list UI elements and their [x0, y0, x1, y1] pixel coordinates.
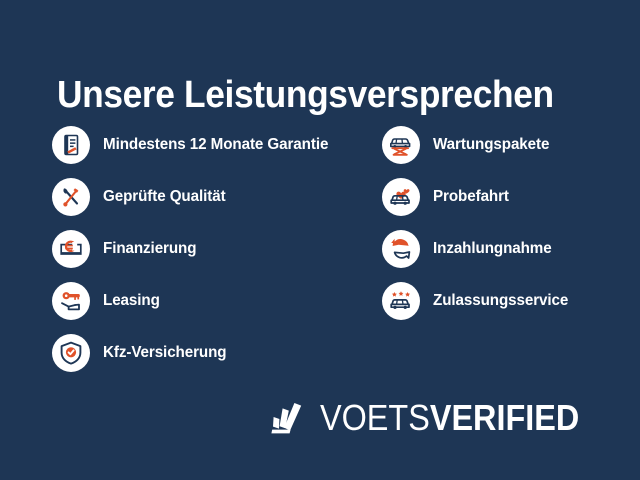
- promise-label: Kfz-Versicherung: [103, 344, 227, 362]
- certificate-document-pen-icon: [52, 126, 90, 164]
- page-title: Unsere Leistungsversprechen: [57, 73, 559, 117]
- promise-label: Leasing: [103, 292, 160, 310]
- promise-item-versicherung[interactable]: Kfz-Versicherung: [52, 334, 382, 372]
- shield-check-icon: [52, 334, 90, 372]
- promises-left-column: Mindestens 12 Monate Garantie: [52, 126, 382, 386]
- leistungsversprechen-poster: Unsere Leistungsversprechen Min: [0, 0, 640, 480]
- voets-v-checkmark-icon: [268, 398, 308, 438]
- promise-item-inzahlungnahme[interactable]: Inzahlungnahme: [382, 230, 640, 268]
- promise-label: Zulassungsservice: [433, 292, 568, 310]
- promise-item-probefahrt[interactable]: Probefahrt: [382, 178, 640, 216]
- promise-label: Wartungspakete: [433, 136, 549, 154]
- promise-label: Geprüfte Qualität: [103, 188, 226, 206]
- promise-item-garantie[interactable]: Mindestens 12 Monate Garantie: [52, 126, 382, 164]
- exchange-arrows-icon: [382, 230, 420, 268]
- promise-label: Probefahrt: [433, 188, 509, 206]
- car-on-lift-icon: [382, 126, 420, 164]
- promise-item-wartungspakete[interactable]: Wartungspakete: [382, 126, 640, 164]
- promise-item-finanzierung[interactable]: Finanzierung: [52, 230, 382, 268]
- promise-item-qualitaet[interactable]: Geprüfte Qualität: [52, 178, 382, 216]
- promise-label: Inzahlungnahme: [433, 240, 552, 258]
- wrench-screwdriver-icon: [52, 178, 90, 216]
- promise-label: Finanzierung: [103, 240, 196, 258]
- banknote-euro-icon: [52, 230, 90, 268]
- promise-item-zulassungsservice[interactable]: Zulassungsservice: [382, 282, 640, 320]
- logo-word-verified: VERIFIED: [430, 397, 579, 438]
- car-heart-icon: [382, 178, 420, 216]
- promise-label: Mindestens 12 Monate Garantie: [103, 136, 328, 154]
- logo-word-voets: VOETS: [320, 397, 430, 438]
- car-stars-icon: [382, 282, 420, 320]
- logo-wordmark: VOETSVERIFIED: [320, 399, 579, 437]
- promises-right-column: Wartungspakete: [382, 126, 640, 334]
- promises-grid: Mindestens 12 Monate Garantie: [0, 126, 640, 376]
- key-in-hand-icon: [52, 282, 90, 320]
- promise-item-leasing[interactable]: Leasing: [52, 282, 382, 320]
- voets-verified-logo[interactable]: VOETSVERIFIED: [268, 396, 608, 440]
